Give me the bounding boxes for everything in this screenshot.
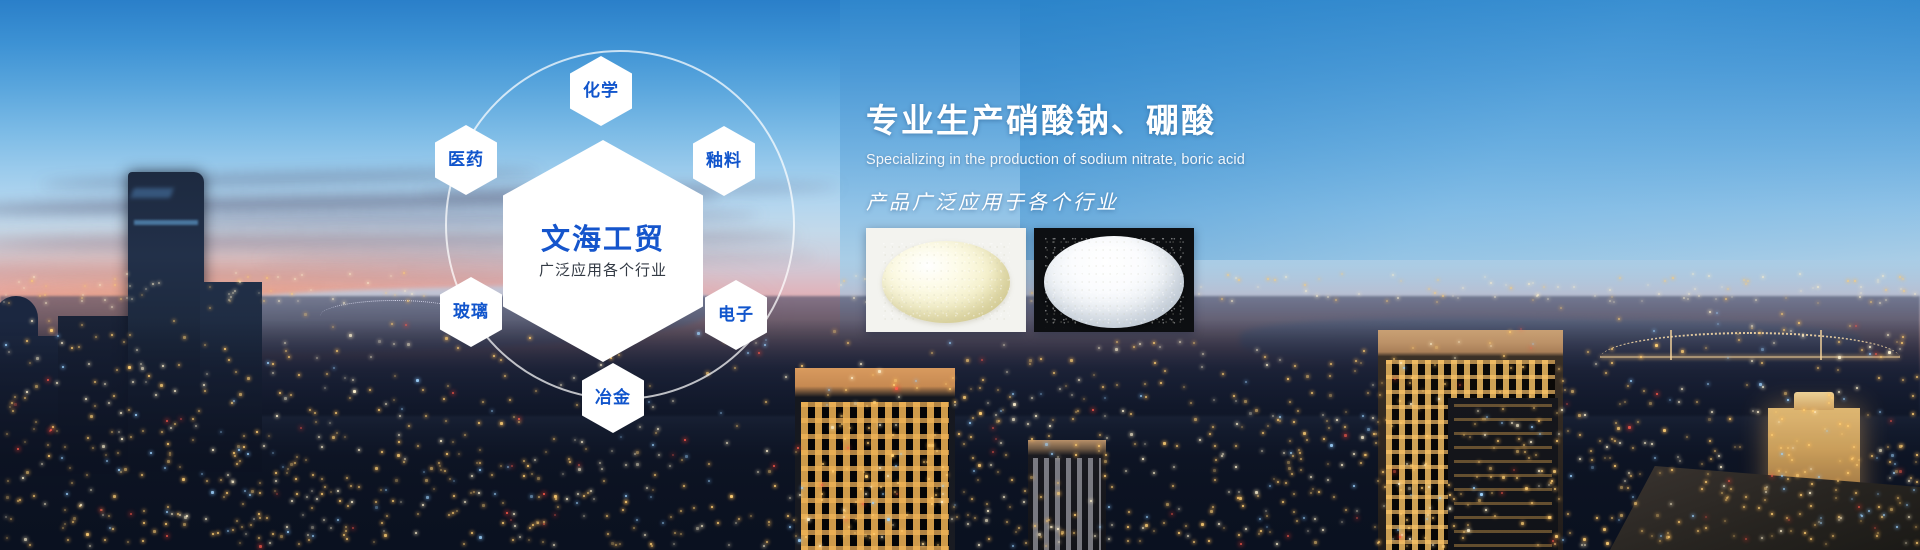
brand-title: 文海工贸 bbox=[541, 225, 665, 254]
building-dark-front bbox=[1448, 398, 1558, 550]
suspension-bridge bbox=[1600, 330, 1900, 370]
hex-pharmaceutical-label: 医药 bbox=[448, 152, 484, 169]
hex-metallurgy-label: 冶金 bbox=[595, 390, 631, 407]
hex-glass-label: 玻璃 bbox=[453, 304, 489, 321]
marketing-copy: 专业生产硝酸钠、硼酸 Specializing in the productio… bbox=[866, 100, 1566, 215]
product-photo-sodium-nitrate[interactable] bbox=[866, 228, 1026, 332]
tagline: 产品广泛应用于各个行业 bbox=[866, 186, 1566, 215]
headline: 专业生产硝酸钠、硼酸 bbox=[866, 100, 1566, 141]
product-photo-boric-acid[interactable] bbox=[1034, 228, 1194, 332]
product-photo-group bbox=[866, 228, 1194, 332]
english-subhead: Specializing in the production of sodium… bbox=[866, 152, 1566, 168]
hex-glaze-label: 釉料 bbox=[706, 153, 742, 170]
powder-pile-white bbox=[1044, 236, 1184, 328]
hex-chemistry-label: 化学 bbox=[583, 83, 619, 100]
bridge-cable bbox=[1600, 332, 1900, 358]
bridge-deck bbox=[1600, 356, 1900, 358]
bridge-pylon bbox=[1670, 330, 1672, 360]
promo-banner: 文海工贸 广泛应用各个行业 化学 釉料 电子 冶金 玻璃 医药 专业生产硝酸钠、… bbox=[0, 0, 1920, 550]
brand-subtitle: 广泛应用各个行业 bbox=[539, 263, 667, 278]
industry-hex-diagram: 文海工贸 广泛应用各个行业 化学 釉料 电子 冶金 玻璃 医药 bbox=[425, 20, 825, 450]
hex-electronics-label: 电子 bbox=[718, 307, 754, 324]
bridge-pylon bbox=[1820, 330, 1822, 360]
powder-pile-cream bbox=[882, 241, 1010, 323]
building-lit-mid bbox=[1028, 440, 1106, 550]
